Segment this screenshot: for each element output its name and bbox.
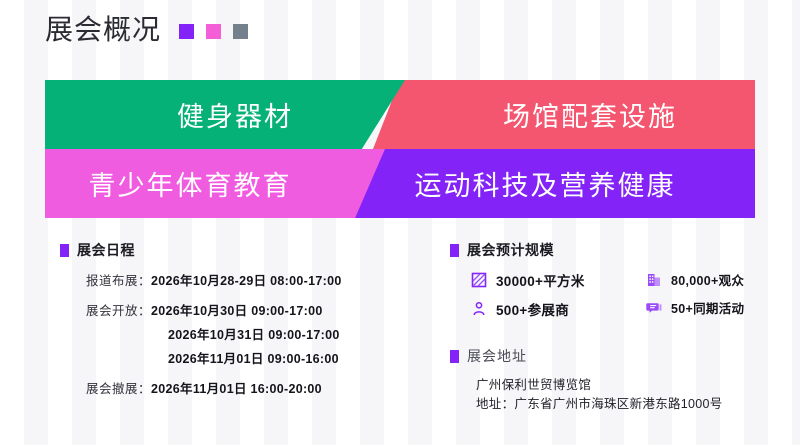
scale-heading: 展会预计规模 xyxy=(450,240,780,260)
area-grid-icon xyxy=(470,272,487,289)
chat-bubble-icon xyxy=(645,299,662,316)
scale-stats: 30000+平方米 500+参展商 xyxy=(470,270,780,328)
schedule-row-value: 2026年10月28-29日 08:00-17:00 xyxy=(151,270,342,289)
swatch-pink xyxy=(206,24,221,39)
address-heading-text: 展会地址 xyxy=(467,346,527,366)
schedule-row: 展会撤展： 2026年11月01日 16:00-20:00 xyxy=(86,378,420,397)
schedule-row-label: 展会开放： xyxy=(86,300,151,319)
scale-stats-column-right: 80,000+观众 50+同期活动 xyxy=(645,270,744,328)
page-title: 展会概况 xyxy=(45,14,161,48)
banner-row-1: 健身器材 场馆配套设施 xyxy=(45,80,755,149)
address-venue: 广州保利世贸博览馆 xyxy=(476,376,780,395)
schedule-row-label: 展会撤展： xyxy=(86,378,151,397)
bullet-square-icon xyxy=(60,244,69,257)
address-section: 展会地址 广州保利世贸博览馆 地址：广东省广州市海珠区新港东路1000号 xyxy=(450,346,780,414)
stat-text-exhibitors: 500+参展商 xyxy=(496,299,569,319)
schedule-list: 报道布展： 2026年10月28-29日 08:00-17:00 展会开放： 2… xyxy=(86,270,420,397)
address-detail: 地址：广东省广州市海珠区新港东路1000号 xyxy=(476,395,780,414)
schedule-row: 报道布展： 2026年10月28-29日 08:00-17:00 xyxy=(86,270,420,289)
details-area: 展会日程 报道布展： 2026年10月28-29日 08:00-17:00 展会… xyxy=(0,240,800,445)
scale-stats-column-left: 30000+平方米 500+参展商 xyxy=(470,270,645,328)
schedule-row: 展会开放： 2026年10月30日 09:00-17:00 xyxy=(86,300,420,319)
page-title-row: 展会概况 xyxy=(45,14,248,48)
building-icon xyxy=(645,271,662,288)
bullet-square-icon xyxy=(450,244,459,257)
schedule-row-value: 2026年11月01日 09:00-16:00 xyxy=(168,348,339,367)
banner-segment-fitness-equipment[interactable] xyxy=(45,80,405,149)
schedule-row: 2026年11月01日 09:00-16:00 xyxy=(168,348,420,367)
stat-item-visitors: 80,000+观众 xyxy=(645,270,744,289)
schedule-row-value: 2026年10月31日 09:00-17:00 xyxy=(168,324,340,343)
banner-segment-youth-education[interactable] xyxy=(45,149,385,218)
person-icon xyxy=(470,301,487,318)
stat-text-area: 30000+平方米 xyxy=(496,270,585,290)
stat-item-exhibitors: 500+参展商 xyxy=(470,299,645,319)
category-banner: 健身器材 场馆配套设施 青少年体育教育 运动科技及营养健康 xyxy=(45,80,755,218)
schedule-heading-text: 展会日程 xyxy=(77,240,135,260)
schedule-row-value: 2026年10月30日 09:00-17:00 xyxy=(151,300,323,319)
bullet-square-icon xyxy=(450,350,459,363)
stat-item-events: 50+同期活动 xyxy=(645,298,744,317)
schedule-row-value: 2026年11月01日 16:00-20:00 xyxy=(151,378,322,397)
scale-heading-text: 展会预计规模 xyxy=(467,240,554,260)
address-heading: 展会地址 xyxy=(450,346,780,366)
scale-section: 展会预计规模 30000+平方米 xyxy=(450,240,780,414)
stat-item-area: 30000+平方米 xyxy=(470,270,645,290)
schedule-row: 2026年10月31日 09:00-17:00 xyxy=(168,324,420,343)
swatch-gray xyxy=(233,24,248,39)
stat-text-events: 50+同期活动 xyxy=(671,298,744,317)
schedule-row-label: 报道布展： xyxy=(86,270,151,289)
swatch-purple xyxy=(179,24,194,39)
banner-row-2: 青少年体育教育 运动科技及营养健康 xyxy=(45,149,755,218)
schedule-heading: 展会日程 xyxy=(60,240,420,260)
schedule-section: 展会日程 报道布展： 2026年10月28-29日 08:00-17:00 展会… xyxy=(60,240,420,408)
stat-text-visitors: 80,000+观众 xyxy=(671,270,744,289)
